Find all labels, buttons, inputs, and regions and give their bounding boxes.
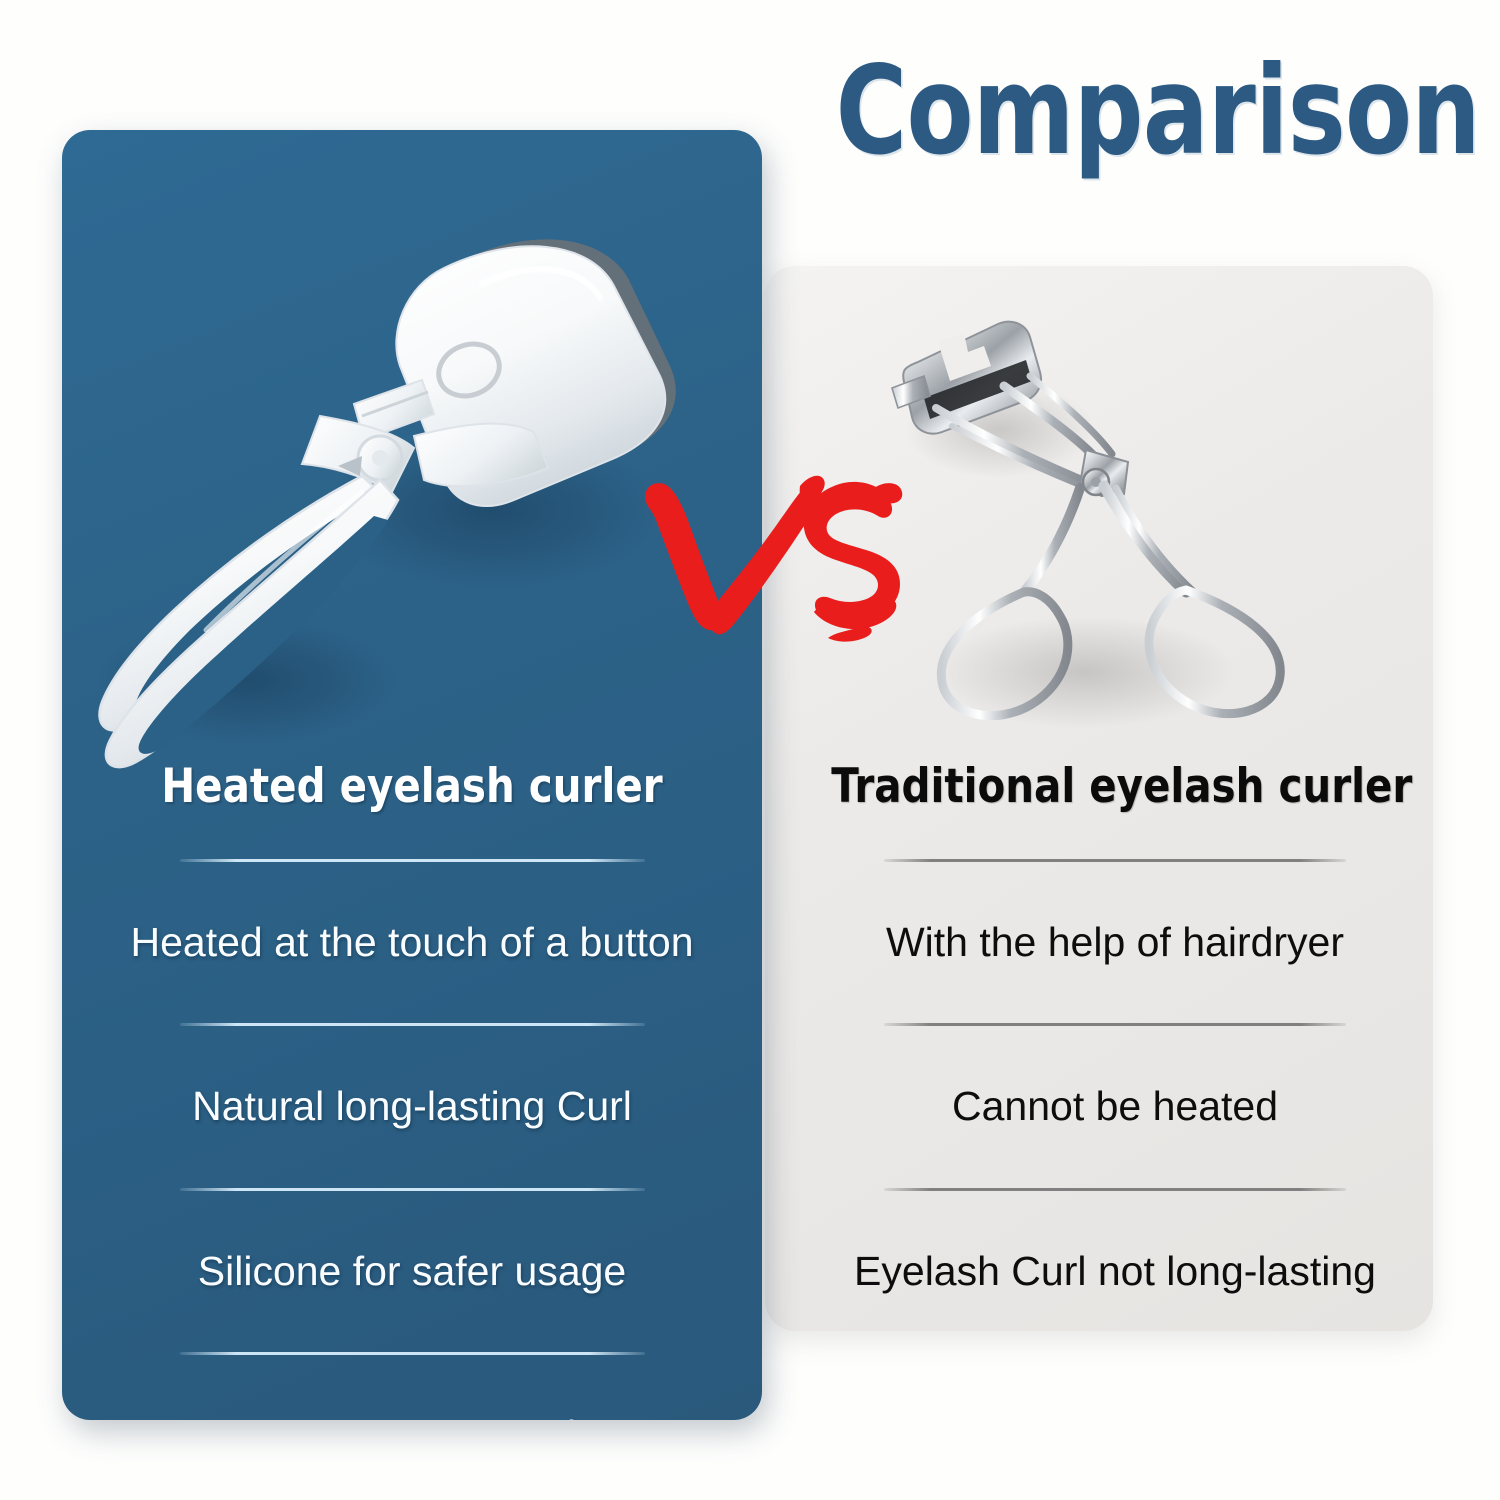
- heated-feature-item: Natural long-lasting Curl: [82, 1084, 742, 1129]
- silver-traditional-eyelash-curler-image: [880, 280, 1330, 750]
- vs-mark-icon: [628, 462, 908, 662]
- comparison-infographic: Comparison: [0, 0, 1500, 1500]
- traditional-curler-heading: Traditional eyelash curler: [831, 762, 1399, 811]
- heated-curler-panel: Heated eyelash curler Heated at the touc…: [62, 130, 762, 1420]
- traditional-curler-feature-list: Traditional eyelash curler With the help…: [785, 762, 1445, 1294]
- traditional-feature-item: Eyelash Curl not long-lasting: [785, 1249, 1445, 1294]
- traditional-feature-item: With the help of hairdryer: [785, 920, 1445, 965]
- page-title: Comparison: [928, 48, 1480, 173]
- traditional-feature-item: Cannot be heated: [785, 1084, 1445, 1129]
- heated-feature-item: Heated at the touch of a button: [82, 920, 742, 965]
- heated-curler-feature-list: Heated eyelash curler Heated at the touc…: [82, 762, 742, 1420]
- heated-curler-heading: Heated eyelash curler: [128, 762, 696, 811]
- heated-feature-item: Two temperature settings: [82, 1413, 742, 1420]
- heated-feature-item: Silicone for safer usage: [82, 1249, 742, 1294]
